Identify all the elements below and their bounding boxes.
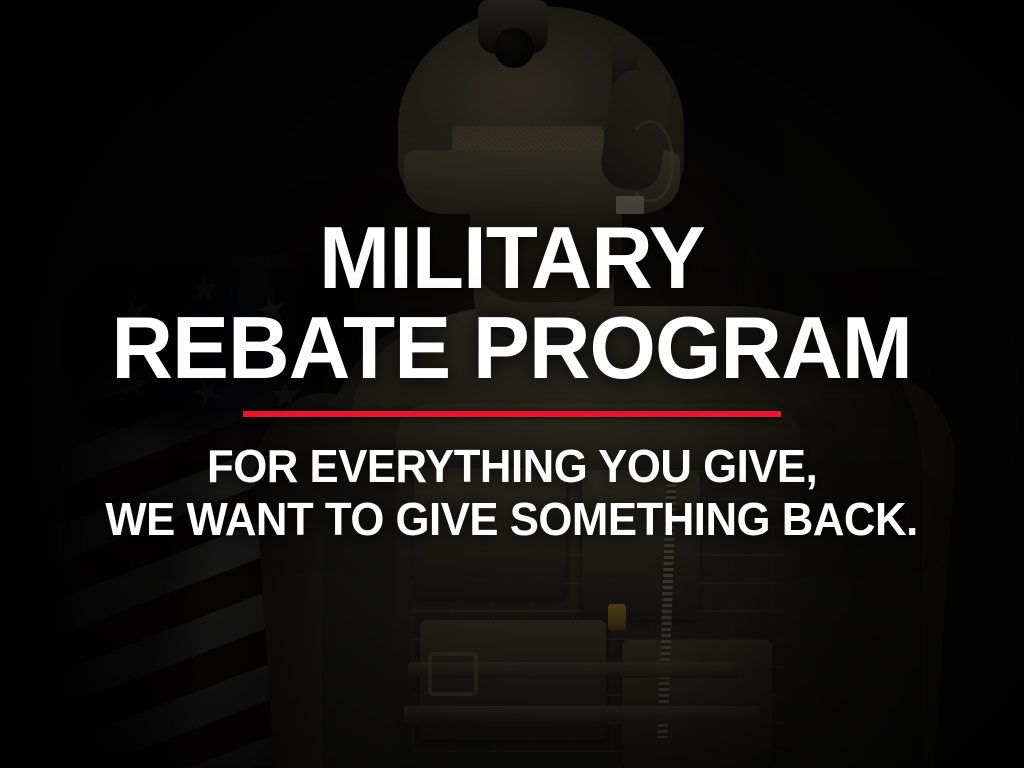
red-divider-rule: [243, 411, 781, 417]
subhead-line-1: FOR EVERYTHING YOU GIVE,: [207, 441, 817, 493]
headline-line-2: REBATE PROGRAM: [112, 306, 913, 390]
headline-line-1: MILITARY: [319, 216, 705, 300]
subhead-line-2: WE WANT TO GIVE SOMETHING BACK.: [106, 494, 918, 546]
poster-canvas: MILITARY REBATE PROGRAM FOR EVERYTHING Y…: [0, 0, 1024, 768]
text-overlay: MILITARY REBATE PROGRAM FOR EVERYTHING Y…: [0, 0, 1024, 768]
